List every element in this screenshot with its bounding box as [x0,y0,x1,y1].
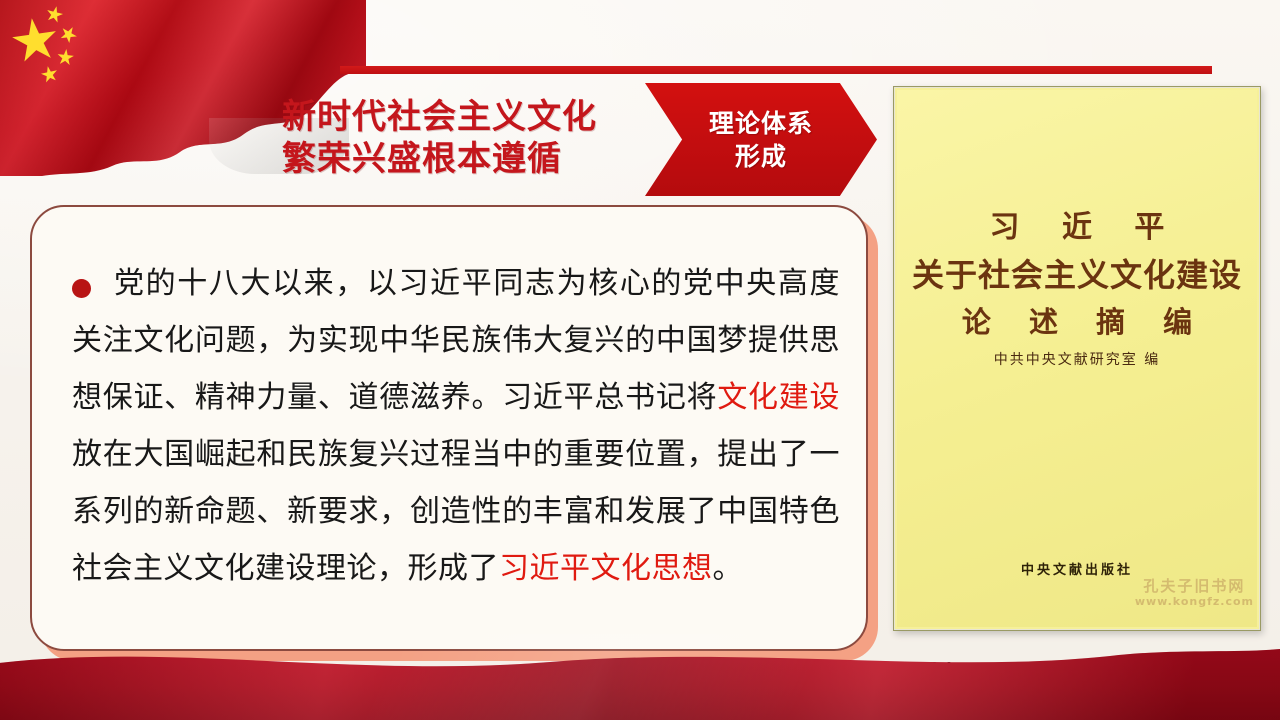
body-paragraph: 党的十八大以来，以习近平同志为核心的党中央高度关注文化问题，为实现中华民族伟大复… [72,255,840,597]
page-title-line1: 新时代社会主义文化 [282,97,597,137]
book-editor: 中共中央文献研究室 编 [894,349,1260,369]
body-text-run: 。 [713,551,744,586]
book-publisher: 中央文献出版社 [894,559,1260,578]
body-highlight-run: 习近平文化思想 [499,551,713,586]
body-highlight-run: 文化建设 [717,380,840,415]
header-rule [340,66,1212,74]
book-cover: 习 近 平 关于社会主义文化建设 论 述 摘 编 中共中央文献研究室 编 中央文… [893,86,1261,631]
book-title: 习 近 平 关于社会主义文化建设 论 述 摘 编 [894,205,1260,345]
content-card: 党的十八大以来，以习近平同志为核心的党中央高度关注文化问题，为实现中华民族伟大复… [30,205,868,651]
book-title-line1: 习 近 平 [894,205,1260,251]
ribbon-sheen [0,634,1280,720]
book-title-line3: 论 述 摘 编 [894,299,1260,345]
red-ribbon [0,634,1280,720]
book-title-line2: 关于社会主义文化建设 [894,251,1260,299]
page-title-line2: 繁荣兴盛根本遵循 [282,138,652,180]
slide-root: 新时代社会主义文化 繁荣兴盛根本遵循 理论体系 形成 党的十八大以来，以习近平同… [0,0,1280,720]
section-badge-line2: 形成 [735,140,787,173]
page-title: 新时代社会主义文化 繁荣兴盛根本遵循 [282,96,652,180]
section-badge-line1: 理论体系 [709,107,813,140]
